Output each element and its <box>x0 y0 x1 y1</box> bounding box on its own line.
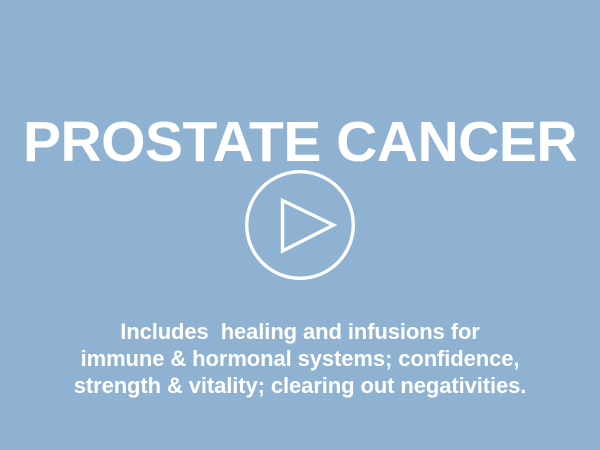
description-text: Includes healing and infusions for immun… <box>0 318 600 399</box>
page-title: PROSTATE CANCER <box>0 108 600 176</box>
description-line-1: Includes healing and infusions for <box>0 318 600 345</box>
description-line-2: immune & hormonal systems; confidence, <box>0 345 600 372</box>
video-thumbnail-card: PROSTATE CANCER Includes healing and inf… <box>0 0 600 450</box>
description-line-3: strength & vitality; clearing out negati… <box>0 372 600 399</box>
play-circle-icon <box>245 170 355 280</box>
play-button[interactable] <box>245 170 355 280</box>
